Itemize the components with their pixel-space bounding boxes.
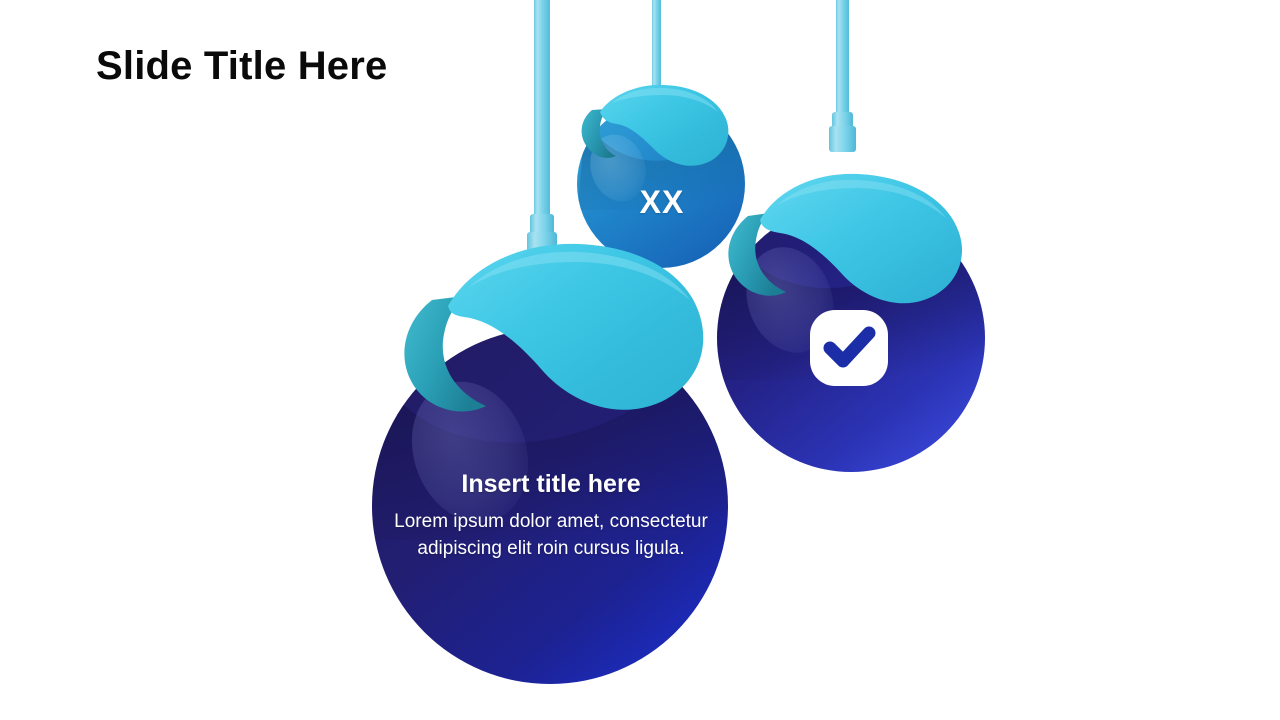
hanging-ornaments-illustration [0, 0, 1280, 720]
ornament-middle [577, 85, 748, 268]
ornament-main [360, 244, 736, 684]
cord-main-ornament [527, 0, 557, 266]
ornament-right [712, 174, 990, 472]
cord-right-ornament [829, 0, 856, 152]
check-icon[interactable] [810, 310, 888, 386]
slide-canvas: Slide Title Here [0, 0, 1280, 720]
